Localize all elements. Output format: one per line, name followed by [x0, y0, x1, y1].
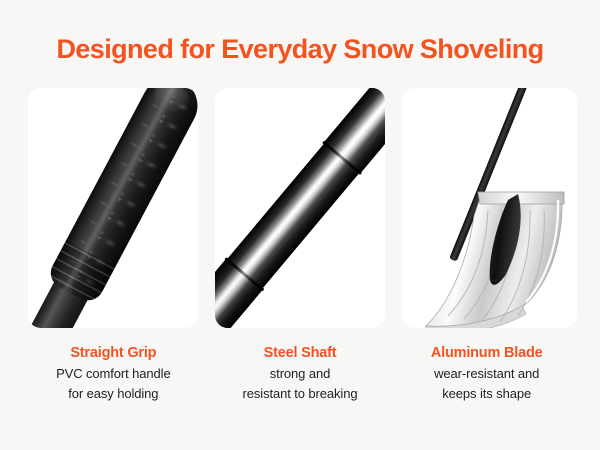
feature-card-blade[interactable] [402, 88, 577, 328]
caption-grip-line2: for easy holding [20, 385, 207, 403]
feature-card-row [28, 88, 573, 328]
caption-blade-line1: wear-resistant and [393, 365, 580, 383]
caption-grip-heading: Straight Grip [20, 344, 207, 363]
steel-shaft-illustration [215, 88, 385, 328]
banner-title: Designed for Everyday Snow Shoveling [0, 32, 600, 66]
product-feature-banner: Designed for Everyday Snow Shoveling [0, 0, 600, 450]
blade-image [402, 88, 577, 328]
caption-shaft: Steel Shaft strong and resistant to brea… [207, 344, 394, 414]
caption-shaft-heading: Steel Shaft [207, 344, 394, 363]
shaft-image [215, 88, 385, 328]
grip-handle-illustration [28, 88, 198, 328]
feature-card-grip[interactable] [28, 88, 198, 328]
caption-grip: Straight Grip PVC comfort handle for eas… [20, 344, 207, 414]
grip-body [45, 88, 198, 306]
caption-grip-line1: PVC comfort handle [20, 365, 207, 383]
caption-blade: Aluminum Blade wear-resistant and keeps … [393, 344, 580, 414]
feature-caption-row: Straight Grip PVC comfort handle for eas… [20, 344, 580, 414]
caption-shaft-line1: strong and [207, 365, 394, 383]
caption-blade-heading: Aluminum Blade [393, 344, 580, 363]
aluminum-blade-illustration [402, 88, 577, 328]
caption-shaft-line2: resistant to breaking [207, 385, 394, 403]
feature-card-shaft[interactable] [215, 88, 385, 328]
caption-blade-line2: keeps its shape [393, 385, 580, 403]
blade-top-flange [478, 192, 564, 204]
grip-image [28, 88, 198, 328]
